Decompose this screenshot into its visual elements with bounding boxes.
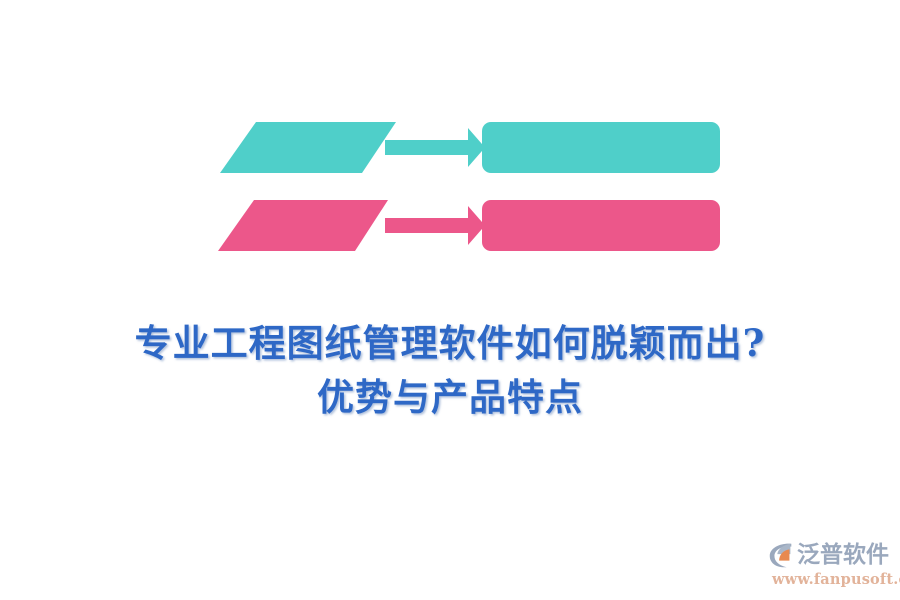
- page-title-line-2: 优势与产品特点: [0, 370, 900, 424]
- brand-watermark-row: 泛普软件: [766, 540, 889, 570]
- page-title: 专业工程图纸管理软件如何脱颖而出? 优势与产品特点: [0, 316, 900, 424]
- pink-rounded-rectangle: [482, 200, 720, 251]
- pink-arrow: [385, 206, 485, 245]
- two-row-process-diagram: [210, 112, 730, 260]
- teal-arrow: [385, 128, 485, 167]
- page-title-line-1: 专业工程图纸管理软件如何脱颖而出?: [0, 316, 900, 370]
- fanpu-logo-icon: [766, 540, 796, 570]
- brand-watermark: 泛普软件 www.fanpusoft.com: [766, 540, 894, 592]
- brand-url: www.fanpusoft.com: [772, 571, 900, 588]
- teal-rounded-rectangle: [482, 122, 720, 173]
- brand-name: 泛普软件: [797, 540, 889, 570]
- pink-parallelogram: [218, 200, 388, 251]
- teal-parallelogram: [220, 122, 396, 173]
- diagram-row-pink: [218, 200, 720, 251]
- canvas-root: 专业工程图纸管理软件如何脱颖而出? 优势与产品特点 泛普软件 www.fanpu…: [0, 0, 900, 600]
- diagram-row-teal: [220, 122, 720, 173]
